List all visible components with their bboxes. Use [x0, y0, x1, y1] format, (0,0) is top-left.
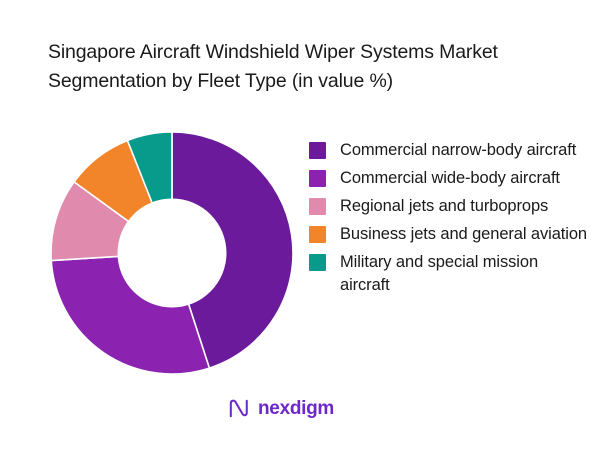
nexdigm-n-logo-icon — [226, 396, 251, 421]
legend-label: Commercial wide-body aircraft — [340, 167, 560, 190]
legend-item[interactable]: Commercial narrow-body aircraft — [309, 139, 594, 162]
legend-label: Military and special mission aircraft — [340, 251, 588, 297]
legend-item[interactable]: Business jets and general aviation — [309, 223, 594, 246]
legend-label: Business jets and general aviation — [340, 223, 587, 246]
legend-item[interactable]: Commercial wide-body aircraft — [309, 167, 594, 190]
legend-label: Regional jets and turboprops — [340, 195, 548, 218]
brand-logo: nexdigm — [226, 396, 334, 421]
legend-item[interactable]: Military and special mission aircraft — [309, 251, 594, 297]
chart-title: Singapore Aircraft Windshield Wiper Syst… — [48, 38, 568, 96]
legend-swatch-regional-jets-and-turboprops — [309, 198, 326, 215]
chart-legend: Commercial narrow-body aircraft Commerci… — [309, 139, 594, 302]
donut-center-hole — [118, 199, 227, 308]
donut-chart — [51, 132, 293, 374]
legend-swatch-business-jets-and-general-aviation — [309, 226, 326, 243]
legend-swatch-commercial-wide-body-aircraft — [309, 170, 326, 187]
chart-canvas: Singapore Aircraft Windshield Wiper Syst… — [0, 0, 602, 451]
legend-swatch-commercial-narrow-body-aircraft — [309, 142, 326, 159]
donut-chart-svg — [51, 132, 293, 374]
legend-label: Commercial narrow-body aircraft — [340, 139, 576, 162]
brand-name: nexdigm — [258, 398, 334, 420]
legend-swatch-military-and-special-mission-aircraft — [309, 254, 326, 271]
legend-item[interactable]: Regional jets and turboprops — [309, 195, 594, 218]
